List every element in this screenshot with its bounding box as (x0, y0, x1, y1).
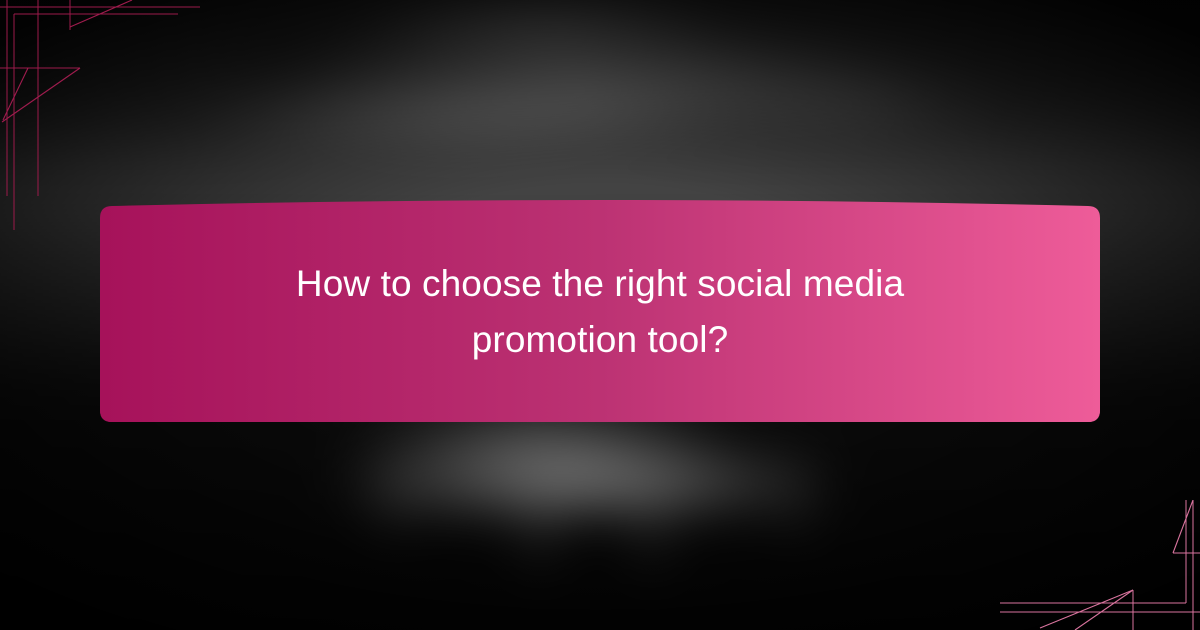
title-banner: How to choose the right social media pro… (100, 192, 1100, 432)
banner-title-line-1: How to choose the right social media (296, 261, 904, 307)
banner-title-line-2: promotion tool? (472, 317, 729, 363)
page-canvas: How to choose the right social media pro… (0, 0, 1200, 630)
banner-text-block: How to choose the right social media pro… (100, 192, 1100, 432)
